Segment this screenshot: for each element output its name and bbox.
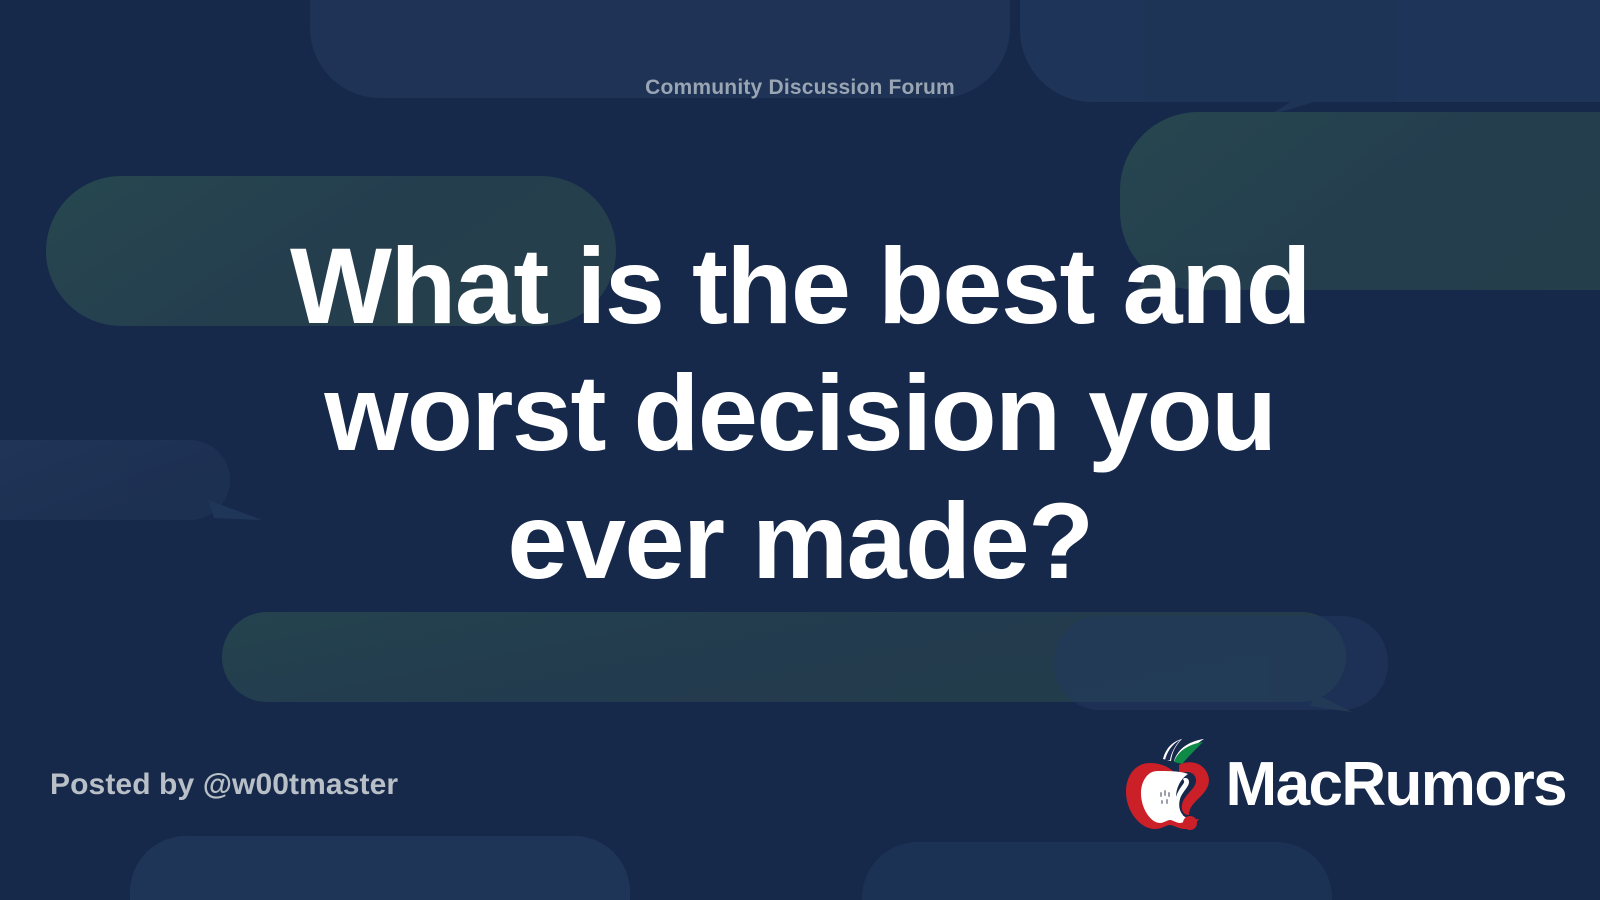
forum-eyebrow-label: Community Discussion Forum — [0, 76, 1600, 100]
posted-by-label: Posted by @w00tmaster — [50, 768, 398, 802]
macrumors-logo-lockup[interactable]: MacRumors — [1116, 735, 1566, 835]
forum-share-card: Community Discussion Forum What is the b… — [0, 0, 1600, 900]
macrumors-apple-question-mark-logo — [1116, 735, 1220, 835]
card-content: Community Discussion Forum What is the b… — [0, 0, 1600, 900]
page-title: What is the best and worst decision you … — [210, 222, 1390, 604]
macrumors-wordmark: MacRumors — [1226, 754, 1566, 816]
